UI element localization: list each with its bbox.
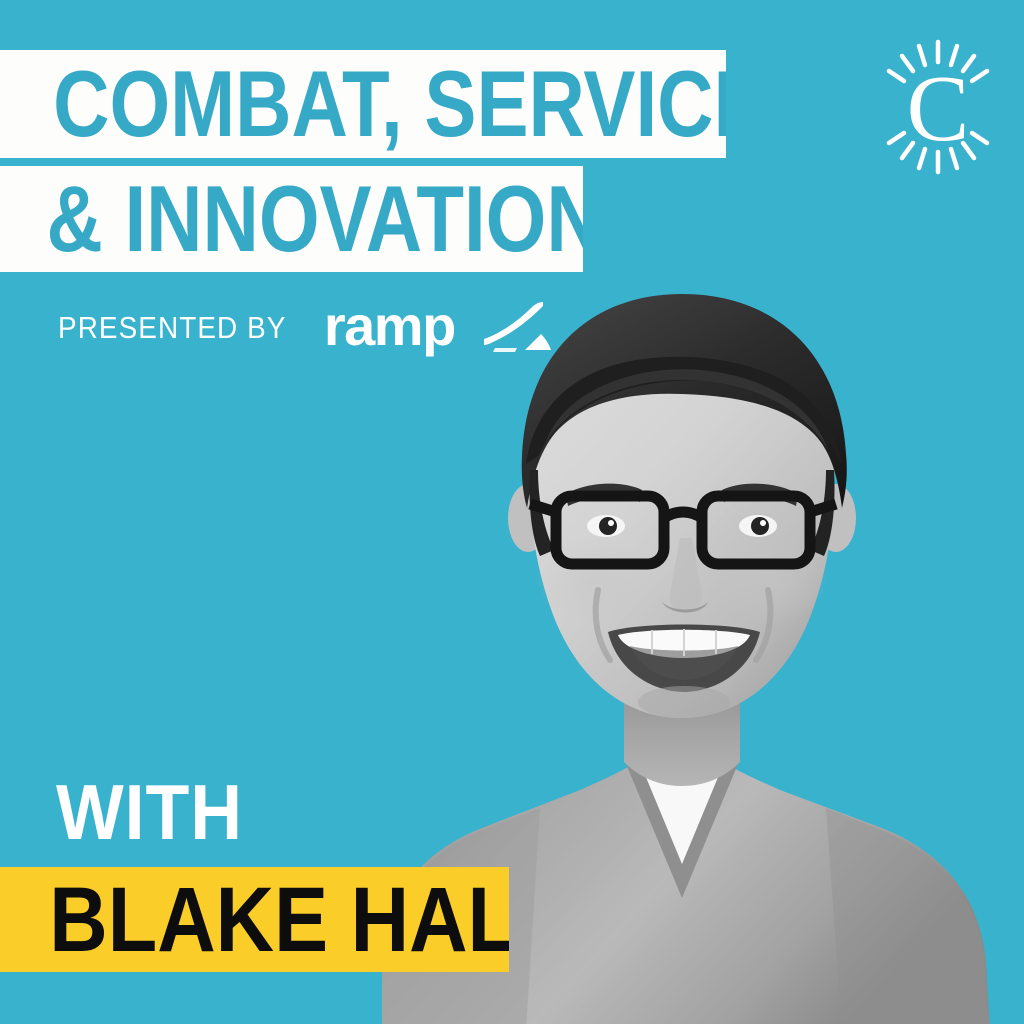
ramp-wordmark: ramp [324,298,455,354]
with-label: WITH [56,773,243,851]
podcast-cover-art: COMBAT, SERVICE, & INNOVATION PRESENTED … [0,0,1024,1024]
svg-text:C: C [907,57,970,161]
presented-by-label: PRESENTED BY [58,310,286,346]
guest-name: BLAKE HALL [0,874,509,966]
sponsor-row: PRESENTED BY ramp [58,300,553,356]
sunburst-c-logo: C [874,36,1002,178]
title-bar-line-2: & INNOVATION [0,166,583,272]
podcast-title-line-1: COMBAT, SERVICE, [0,57,726,151]
guest-name-bar: BLAKE HALL [0,867,509,972]
podcast-title-line-2: & INNOVATION [0,172,583,266]
ramp-swoosh-icon [481,300,553,356]
title-bar-line-1: COMBAT, SERVICE, [0,50,726,158]
